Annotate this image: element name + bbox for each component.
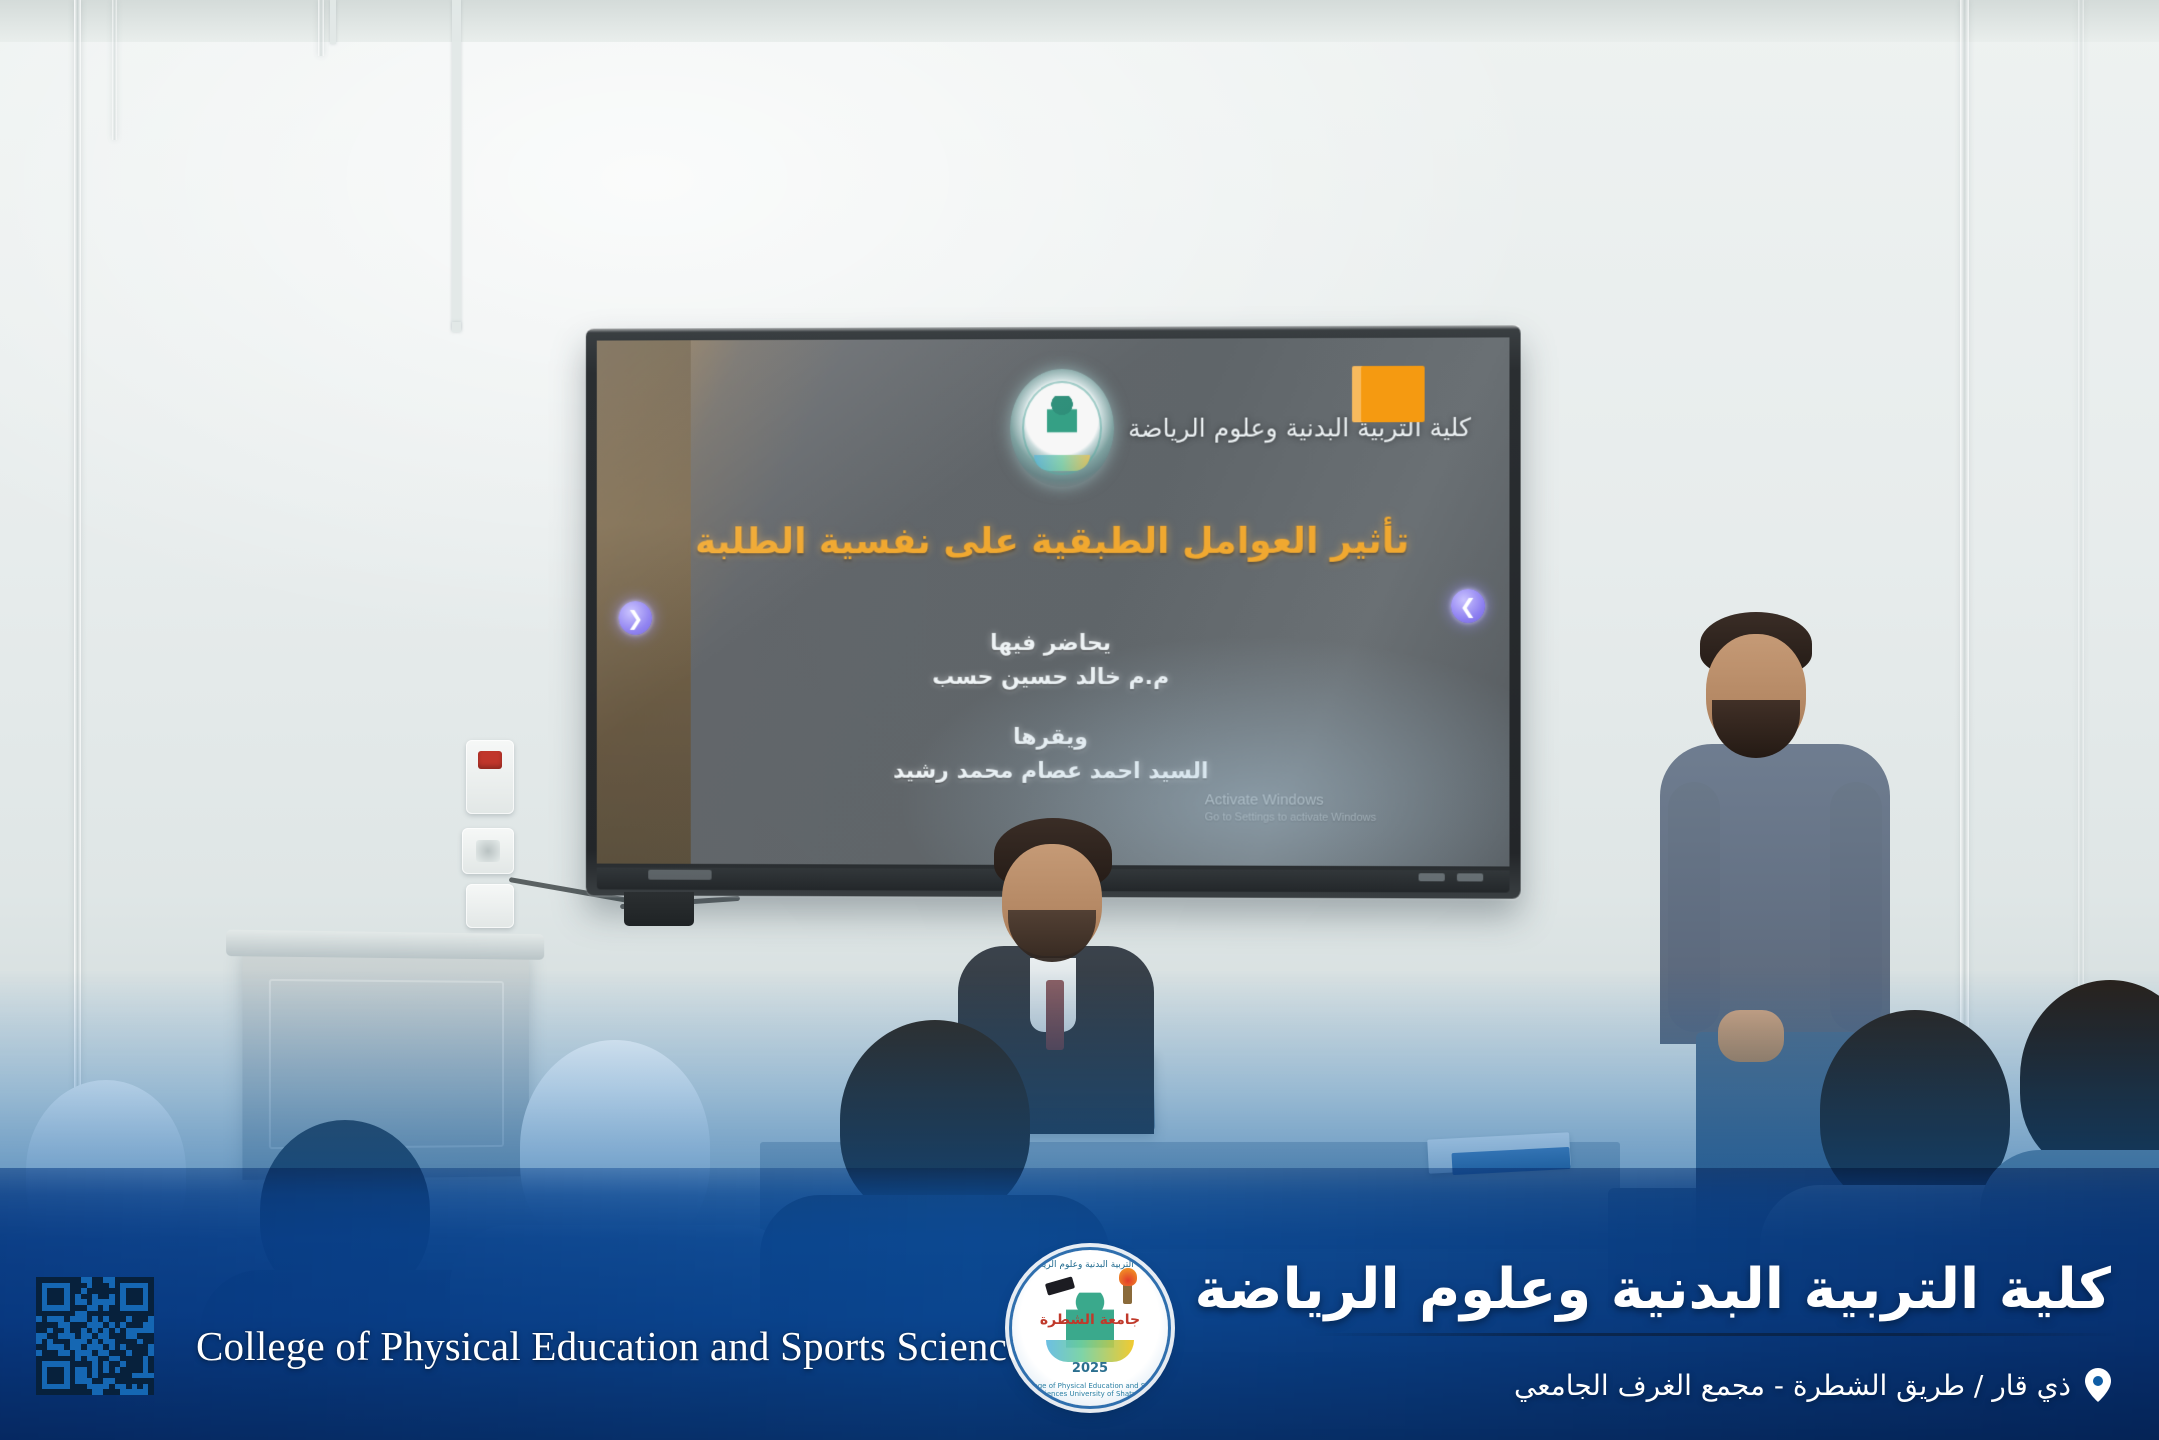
display-brand-logo	[648, 870, 711, 880]
qr-code-icon[interactable]	[36, 1277, 154, 1395]
podium-top	[226, 930, 544, 960]
seal-leaves	[1034, 455, 1090, 471]
wall-trim-upper	[318, 0, 324, 56]
logo-year: 2025	[1012, 1361, 1168, 1376]
standing-man-right-arm	[1830, 782, 1882, 1032]
slide-title: تأثير العوامل الطبقية على نفسية الطلبة	[597, 520, 1510, 562]
slide-approved-by-label: ويقرها	[597, 721, 1510, 757]
display-control-button-1[interactable]	[1419, 873, 1445, 881]
qr-module	[148, 1389, 154, 1395]
wall-conduit-vertical	[452, 0, 461, 330]
wall-trim-far-right	[2078, 0, 2084, 1100]
slide-presented-by-label: يحاضر فيها	[597, 627, 1510, 661]
location-pin-icon	[2085, 1368, 2111, 1402]
standing-man-left-arm	[1668, 782, 1720, 1032]
slide-body-spacer	[597, 695, 1510, 722]
logo-ring-top-text: كلية التربية البدنية وعلوم الرياضة	[1012, 1260, 1168, 1270]
wall-switch-red	[466, 740, 514, 814]
wall-conduit-short	[330, 0, 336, 44]
wall-trim-left-short	[112, 0, 117, 140]
logo-ring-bottom-text: College of Physical Education and Sport …	[1012, 1382, 1168, 1398]
banner-arabic-name: كلية التربية البدنية وعلوم الرياضة	[1194, 1257, 2111, 1322]
college-seal-icon	[1010, 369, 1114, 487]
wall-trim-right	[1960, 0, 1969, 1160]
slide-nav-next-icon[interactable]: ❮	[1451, 589, 1485, 623]
banner-english-name: College of Physical Education and Sports…	[196, 1322, 1042, 1370]
slide-nav-prev-icon[interactable]: ❯	[619, 601, 653, 635]
slide-body: يحاضر فيها م.م خالد حسين حسب ويقرها السي…	[597, 627, 1510, 790]
wall-outlet-upper	[462, 828, 514, 874]
seal-athlete-figure	[1047, 395, 1077, 441]
windows-activation-watermark: Activate Windows Go to Settings to activ…	[1205, 791, 1377, 824]
slide-orange-accent-block	[1352, 366, 1425, 422]
logo-university-name: جامعة الشطرة	[1012, 1312, 1168, 1328]
audience-head-6	[2020, 980, 2159, 1175]
wall-trim-left	[74, 0, 81, 1180]
activate-windows-subtitle: Go to Settings to activate Windows	[1205, 811, 1377, 823]
logo-leaves	[1046, 1340, 1134, 1362]
banner-divider	[1315, 1333, 2115, 1336]
flame-icon	[1119, 1268, 1137, 1286]
presentation-slide[interactable]: كلية التربية البدنية وعلوم الرياضة تأثير…	[597, 337, 1510, 866]
banner-address-text: ذي قار / طريق الشطرة - مجمع الغرف الجامع…	[1514, 1369, 2071, 1402]
slide-presenter-name: م.م خالد حسين حسب	[597, 661, 1510, 696]
wall-conduit-elbow	[452, 322, 461, 332]
banner-address-row: ذي قار / طريق الشطرة - مجمع الغرف الجامع…	[1514, 1368, 2111, 1402]
university-logo: كلية التربية البدنية وعلوم الرياضة جامعة…	[1012, 1250, 1168, 1406]
wall-mounted-display[interactable]: كلية التربية البدنية وعلوم الرياضة تأثير…	[586, 325, 1521, 898]
branding-banner: College of Physical Education and Sports…	[0, 1168, 2159, 1440]
display-control-button-2[interactable]	[1457, 873, 1483, 881]
wall-outlet-lower	[466, 884, 514, 928]
screenshot-canvas: كلية التربية البدنية وعلوم الرياضة تأثير…	[0, 0, 2159, 1440]
activate-windows-title: Activate Windows	[1205, 791, 1377, 808]
slide-approver-name: السيد احمد عصام محمد رشيد	[597, 754, 1510, 790]
display-wall-mount	[624, 892, 694, 926]
